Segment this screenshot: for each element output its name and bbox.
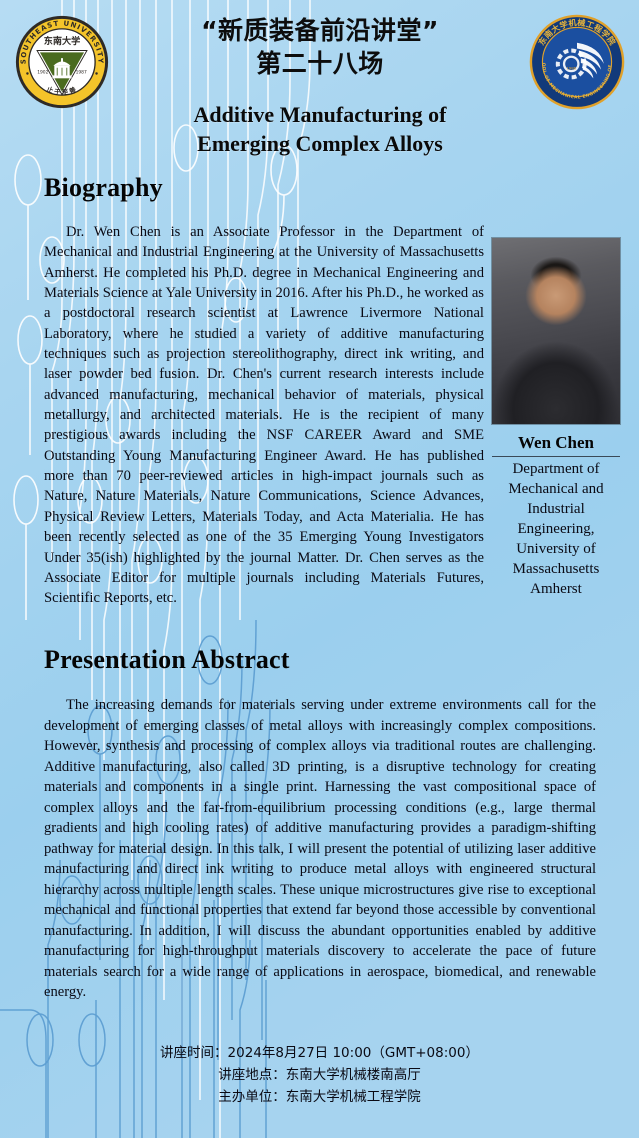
poster-english-title: Additive Manufacturing of Emerging Compl… — [110, 100, 530, 158]
abstract-text: The increasing demands for materials ser… — [44, 695, 596, 1003]
event-location: 讲座地点：东南大学机械楼南高厅 — [0, 1065, 639, 1087]
speaker-affiliation: Department of Mechanical and Industrial … — [492, 460, 620, 600]
svg-text:1987: 1987 — [76, 70, 87, 76]
event-organizer: 主办单位：东南大学机械工程学院 — [0, 1087, 639, 1109]
speaker-name: Wen Chen — [492, 433, 620, 456]
svg-text:1902: 1902 — [37, 70, 48, 76]
speaker-portrait-photo — [492, 238, 620, 424]
speaker-divider — [492, 456, 620, 457]
abstract-heading: Presentation Abstract — [44, 645, 290, 675]
biography-text: Dr. Wen Chen is an Associate Professor i… — [44, 222, 484, 609]
school-of-mechanical-engineering-logo-icon: 1986 东南大学机械工程学院 SCHOOL OF MECHANICAL ENG… — [529, 14, 625, 110]
chinese-title-line-2: 第二十八场 — [120, 47, 520, 80]
event-time: 讲座时间：2024年8月27日 10:00（GMT+08:00） — [0, 1043, 639, 1065]
biography-heading: Biography — [44, 173, 163, 203]
seminar-poster: 东南大学 1902 1987 SOUTHEAST UNIVERSITY 止于至善 — [0, 0, 639, 1138]
english-title-line-1: Additive Manufacturing of — [110, 100, 530, 129]
event-details: 讲座时间：2024年8月27日 10:00（GMT+08:00） 讲座地点：东南… — [0, 1043, 639, 1109]
svg-text:东南大学: 东南大学 — [44, 35, 80, 47]
english-title-line-2: Emerging Complex Alloys — [110, 129, 530, 158]
svg-text:1986: 1986 — [566, 66, 576, 71]
southeast-university-logo-icon: 东南大学 1902 1987 SOUTHEAST UNIVERSITY 止于至善 — [14, 14, 110, 110]
speaker-card: Wen Chen Department of Mechanical and In… — [492, 238, 620, 600]
chinese-title-line-1: “新质装备前沿讲堂” — [120, 14, 520, 47]
poster-chinese-title: “新质装备前沿讲堂” 第二十八场 — [120, 14, 520, 80]
